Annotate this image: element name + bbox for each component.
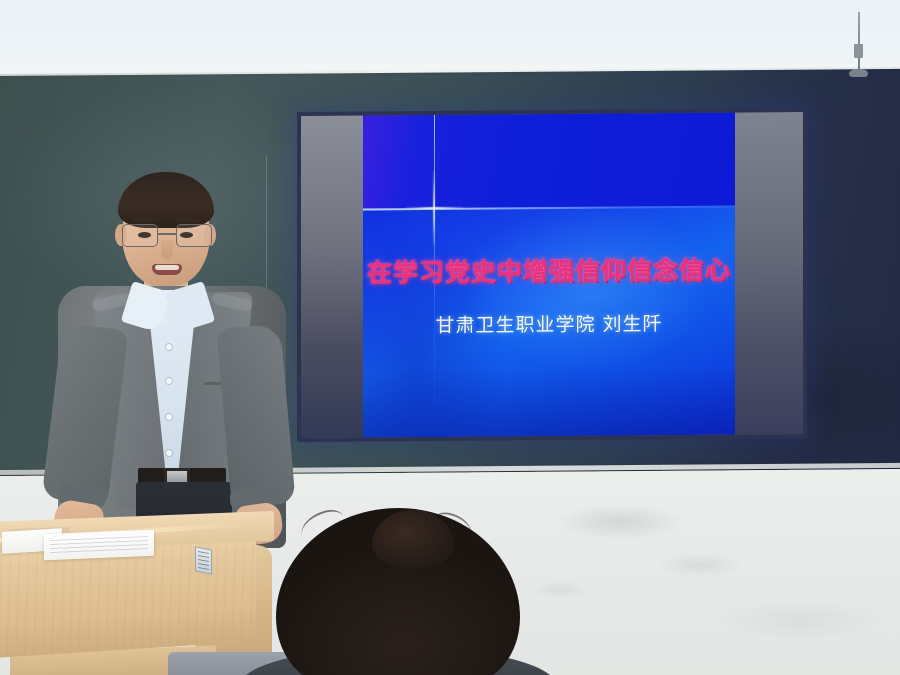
classroom-photo-scene: 在学习党史中增强信仰信念信心 甘肃卫生职业学院 刘生阡 <box>0 0 900 675</box>
paper-text-lines <box>50 536 148 554</box>
presenter-mouth <box>152 264 182 275</box>
presenter-nose <box>161 240 173 260</box>
antenna-base <box>849 69 868 77</box>
shirt-button <box>166 450 172 456</box>
slide-subtitle: 甘肃卫生职业学院 刘生阡 <box>363 309 735 339</box>
eyeglass-lens-right <box>176 224 212 247</box>
projection-screen-surface: 在学习党史中增强信仰信念信心 甘肃卫生职业学院 刘生阡 <box>301 112 803 438</box>
shirt-button <box>166 414 172 420</box>
podium-paper <box>44 530 154 561</box>
projection-letterbox-right <box>735 112 803 435</box>
podium <box>0 512 282 675</box>
asset-tag-text <box>198 551 209 570</box>
eyeglass-bridge <box>158 233 176 235</box>
shirt-button <box>166 378 172 384</box>
eyeglass-lens-left <box>122 224 158 247</box>
slide-header-band <box>363 113 735 209</box>
shirt-button <box>166 344 172 350</box>
presenter <box>52 168 292 568</box>
projection-letterbox-left <box>301 115 363 437</box>
slide-title: 在学习党史中增强信仰信念信心 <box>363 251 735 290</box>
asset-tag-plate <box>195 546 212 574</box>
antenna-icon <box>858 12 860 74</box>
antenna-collar <box>854 44 863 58</box>
projection-screen: 在学习党史中增强信仰信念信心 甘肃卫生职业学院 刘生阡 <box>297 108 807 442</box>
presentation-slide: 在学习党史中增强信仰信念信心 甘肃卫生职业学院 刘生阡 <box>363 113 735 438</box>
